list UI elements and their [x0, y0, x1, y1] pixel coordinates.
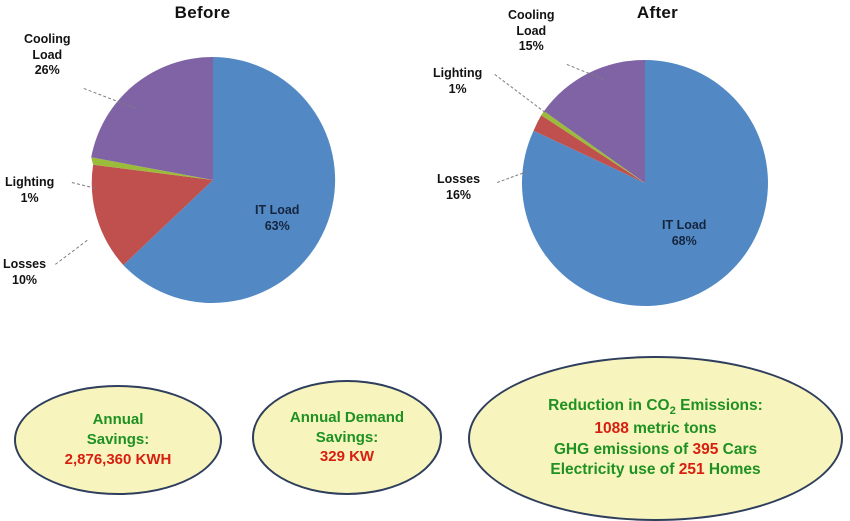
co2-line3: GHG emissions of 395 Cars [554, 440, 757, 460]
demand-savings-value-text: 329 KW [320, 448, 374, 465]
pie-charts-area: Before Cooling Load 26% Lighting 1% [0, 0, 850, 330]
co2-cars-prefix: GHG emissions of [554, 441, 693, 458]
chart-after-title: After [445, 3, 850, 23]
label-lighting-name: Lighting [5, 175, 54, 191]
annual-savings-line2: Savings: [87, 430, 150, 450]
callout-demand-savings: Annual Demand Savings: 329 KW [252, 380, 442, 495]
demand-savings-value: 329 KW [320, 447, 374, 467]
label-losses-name: Losses [3, 257, 46, 273]
annual-savings-line1: Annual [93, 410, 144, 430]
chart-before-title: Before [0, 3, 415, 23]
label-lighting-pct: 1% [5, 191, 54, 207]
label-it-load-name: IT Load [662, 218, 706, 234]
pie-after-svg [520, 58, 770, 308]
pie-before [88, 55, 338, 305]
label-cooling-load-pct: 15% [508, 39, 555, 55]
label-cooling-load-pct: 26% [24, 63, 71, 79]
label-cooling-load: Cooling Load 15% [508, 8, 555, 55]
callouts-area: Annual Savings: 2,876,360 KWH Annual Dem… [0, 330, 850, 519]
label-losses-pct: 10% [3, 273, 46, 289]
co2-line4: Electricity use of 251 Homes [550, 460, 760, 480]
demand-savings-line1: Annual Demand [290, 408, 404, 428]
label-it-load-pct: 68% [662, 234, 706, 250]
label-cooling-load-name1: Cooling [24, 32, 71, 48]
label-lighting: Lighting 1% [5, 175, 54, 206]
pie-after [520, 58, 770, 308]
label-cooling-load-name2: Load [24, 48, 71, 64]
annual-savings-value: 2,876,360 KWH [65, 450, 172, 470]
label-cooling-load: Cooling Load 26% [24, 32, 71, 79]
co2-line2: 1088 metric tons [594, 419, 716, 439]
label-cooling-load-name2: Load [508, 24, 555, 40]
annual-savings-value-text: 2,876,360 KWH [65, 451, 172, 468]
label-it-load-name: IT Load [255, 203, 299, 219]
label-it-load-pct: 63% [255, 219, 299, 235]
callout-annual-savings: Annual Savings: 2,876,360 KWH [14, 385, 222, 495]
co2-metric-tons-unit: metric tons [629, 420, 717, 437]
co2-line1-suffix: Emissions: [676, 397, 763, 414]
chart-before: Before Cooling Load 26% Lighting 1% [0, 0, 425, 330]
label-it-load: IT Load 63% [255, 203, 299, 234]
pie-before-svg [88, 55, 338, 305]
label-cooling-load-name1: Cooling [508, 8, 555, 24]
co2-metric-tons-value: 1088 [594, 420, 628, 437]
co2-line1-prefix: Reduction in CO [548, 397, 669, 414]
label-losses: Losses 16% [437, 172, 480, 203]
label-it-load: IT Load 68% [662, 218, 706, 249]
chart-after: After Cooling Load 15% Lighting 1% [425, 0, 850, 330]
callout-co2-reduction: Reduction in CO2 Emissions: 1088 metric … [468, 356, 843, 521]
co2-cars-suffix: Cars [718, 441, 757, 458]
label-losses: Losses 10% [3, 257, 46, 288]
co2-homes-prefix: Electricity use of [550, 461, 678, 478]
label-losses-pct: 16% [437, 188, 480, 204]
label-losses-name: Losses [437, 172, 480, 188]
label-lighting-name: Lighting [433, 66, 482, 82]
label-lighting: Lighting 1% [433, 66, 482, 97]
co2-homes-value: 251 [679, 461, 705, 478]
co2-cars-value: 395 [693, 441, 719, 458]
label-lighting-pct: 1% [433, 82, 482, 98]
leader-line-losses [55, 240, 88, 265]
demand-savings-line2: Savings: [316, 428, 379, 448]
co2-line1: Reduction in CO2 Emissions: [548, 396, 763, 419]
co2-homes-suffix: Homes [705, 461, 761, 478]
